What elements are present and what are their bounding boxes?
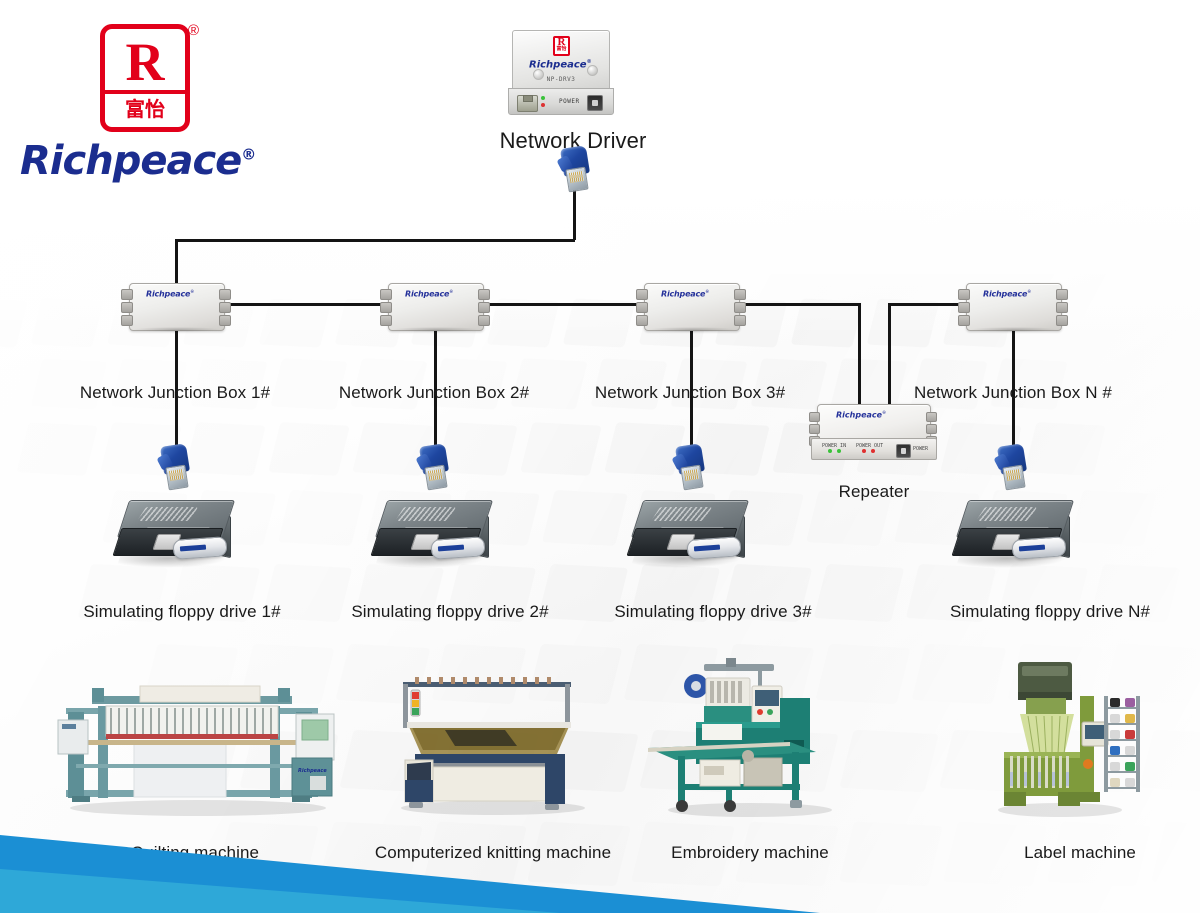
network-driver-front-panel: POWER (508, 88, 614, 115)
mount-tab-icon (734, 289, 746, 300)
mount-tab-icon (958, 315, 970, 326)
logo-chinese-characters: 富怡 (105, 91, 185, 125)
bottom-ribbon (0, 793, 1200, 913)
floppy-drive-2[interactable] (371, 498, 506, 576)
rj45-pins (1006, 469, 1021, 481)
mount-tab-icon (478, 302, 490, 313)
brand-reg: ® (449, 289, 453, 294)
mount-tab-icon (219, 289, 231, 300)
rj45-body (1002, 465, 1025, 491)
vent-icon (976, 507, 1037, 521)
junction-box-3[interactable]: Richpeace® (636, 283, 746, 329)
mount-tab-icon (219, 315, 231, 326)
junction-box-2[interactable]: Richpeace® (380, 283, 490, 329)
junction-box-brand: Richpeace® (983, 289, 1031, 299)
mount-tab-icon (1056, 302, 1068, 313)
repeater-power-label: POWER (913, 446, 928, 452)
logo-mark: R 富怡 (100, 24, 190, 132)
mount-tab-icon (1056, 289, 1068, 300)
rj45-body (165, 465, 188, 491)
network-driver-power-label: POWER (559, 98, 580, 105)
rj45-plug-drive-2 (417, 441, 451, 489)
junction-box-brand-text: Richpeace (405, 290, 449, 299)
junction-box-shadow (392, 327, 480, 332)
junction-box-shadow (648, 327, 736, 332)
floppy-drive-1[interactable] (113, 498, 248, 576)
led-green-icon (828, 449, 832, 453)
rj45-pins (684, 469, 699, 481)
rj45-pins (428, 469, 443, 481)
mount-tab-icon (926, 424, 937, 434)
repeater-device[interactable]: Richpeace® POWER IN POWER OUT POWER (809, 404, 937, 468)
mount-tab-icon (734, 302, 746, 313)
wordmark: Richpeace® (20, 138, 255, 184)
rj45-plug-drive-n (995, 441, 1029, 489)
rj45-body (565, 167, 588, 193)
vent-icon (137, 507, 198, 521)
vent-icon (651, 507, 712, 521)
junction-box-3-label: Network Junction Box 3# (565, 383, 815, 403)
junction-box-1[interactable]: Richpeace® (121, 283, 231, 329)
repeater-led-out-label: POWER OUT (856, 443, 883, 449)
logo-letter: R (105, 32, 185, 93)
junction-box-shadow (970, 327, 1058, 332)
mount-tab-icon (809, 412, 820, 422)
rj45-pins (569, 171, 584, 183)
usb-stick-icon (430, 536, 485, 560)
led-green-icon (837, 449, 841, 453)
junction-box-body: Richpeace® (129, 283, 225, 331)
junction-box-body: Richpeace® (644, 283, 740, 331)
floppy-drive-1-label: Simulating floppy drive 1# (62, 602, 302, 622)
svg-text:Richpeace: Richpeace (298, 768, 327, 774)
repeater-brand-text: Richpeace (836, 411, 882, 420)
usb-stick-icon (1011, 536, 1066, 560)
mount-tab-icon (636, 302, 648, 313)
junction-box-brand-text: Richpeace (661, 290, 705, 299)
logo-chinese-small: 富怡 (555, 47, 568, 53)
junction-box-brand-text: Richpeace (146, 290, 190, 299)
junction-box-2-label: Network Junction Box 2# (309, 383, 559, 403)
junction-box-1-label: Network Junction Box 1# (50, 383, 300, 403)
junction-box-brand: Richpeace® (405, 289, 453, 299)
richpeace-logo-icon: R富怡 (553, 36, 570, 56)
led-green-icon (541, 96, 545, 100)
junction-box-brand: Richpeace® (661, 289, 709, 299)
mount-tab-icon (926, 412, 937, 422)
mount-tab-icon (1056, 315, 1068, 326)
screw-icon-right (587, 65, 598, 76)
rj45-plug-network-driver (558, 143, 592, 191)
mount-tab-icon (734, 315, 746, 326)
mount-tab-icon (380, 302, 392, 313)
led-red-icon (862, 449, 866, 453)
network-driver-device[interactable]: R富怡 Richpeace® NP-DRV3 POWER (512, 30, 616, 114)
junction-box-n-label: Network Junction Box N # (888, 383, 1138, 403)
rj45-plug-drive-3 (673, 441, 707, 489)
wordmark-registered-mark: ® (241, 146, 255, 164)
mount-tab-icon (478, 289, 490, 300)
floppy-drive-3[interactable] (627, 498, 762, 576)
rj45-body (424, 465, 447, 491)
floppy-drive-n-label: Simulating floppy drive N# (925, 602, 1175, 622)
led-red-icon (541, 103, 545, 107)
mount-tab-icon (380, 315, 392, 326)
mount-tab-icon (121, 302, 133, 313)
mount-tab-icon (219, 302, 231, 313)
repeater-front-panel: POWER IN POWER OUT POWER (811, 438, 937, 460)
mount-tab-icon (121, 315, 133, 326)
brand-reg: ® (705, 289, 709, 294)
power-jack-icon[interactable] (587, 95, 603, 111)
usb-stick-icon (686, 536, 741, 560)
mount-tab-icon (478, 315, 490, 326)
logo-registered-mark: ® (188, 22, 199, 39)
junction-box-brand: Richpeace® (146, 289, 194, 299)
repeater-label: Repeater (798, 482, 950, 502)
repeater-brand: Richpeace® (836, 410, 886, 420)
junction-box-n[interactable]: Richpeace® (958, 283, 1068, 329)
rj45-port-icon[interactable] (517, 95, 538, 112)
repeater-led-in-label: POWER IN (822, 443, 846, 449)
mount-tab-icon (636, 289, 648, 300)
junction-box-body: Richpeace® (966, 283, 1062, 331)
junction-box-brand-text: Richpeace (983, 290, 1027, 299)
led-red-icon (871, 449, 875, 453)
rj45-plug-drive-1 (158, 441, 192, 489)
rj45-body (680, 465, 703, 491)
power-jack-icon[interactable] (896, 444, 911, 458)
diagram-canvas: R 富怡 ® Richpeace® R富怡 Richpeace® NP-DRV3… (0, 0, 1200, 913)
floppy-drive-3-label: Simulating floppy drive 3# (593, 602, 833, 622)
brand-reg: ® (1027, 289, 1031, 294)
mount-tab-icon (809, 424, 820, 434)
mount-tab-icon (121, 289, 133, 300)
floppy-drive-2-label: Simulating floppy drive 2# (330, 602, 570, 622)
floppy-drive-n[interactable] (952, 498, 1087, 576)
brand-reg: ® (882, 410, 886, 415)
mount-tab-icon (958, 289, 970, 300)
rj45-pins (169, 469, 184, 481)
brand-reg: ® (190, 289, 194, 294)
network-driver-model: NP-DRV3 (513, 76, 609, 83)
junction-box-shadow (133, 327, 221, 332)
vent-icon (395, 507, 456, 521)
network-driver-top-shell: R富怡 Richpeace® NP-DRV3 (512, 30, 610, 92)
wordmark-text: Richpeace (20, 138, 241, 184)
junction-box-body: Richpeace® (388, 283, 484, 331)
usb-stick-icon (172, 536, 227, 560)
mount-tab-icon (380, 289, 392, 300)
mount-tab-icon (636, 315, 648, 326)
mount-tab-icon (958, 302, 970, 313)
